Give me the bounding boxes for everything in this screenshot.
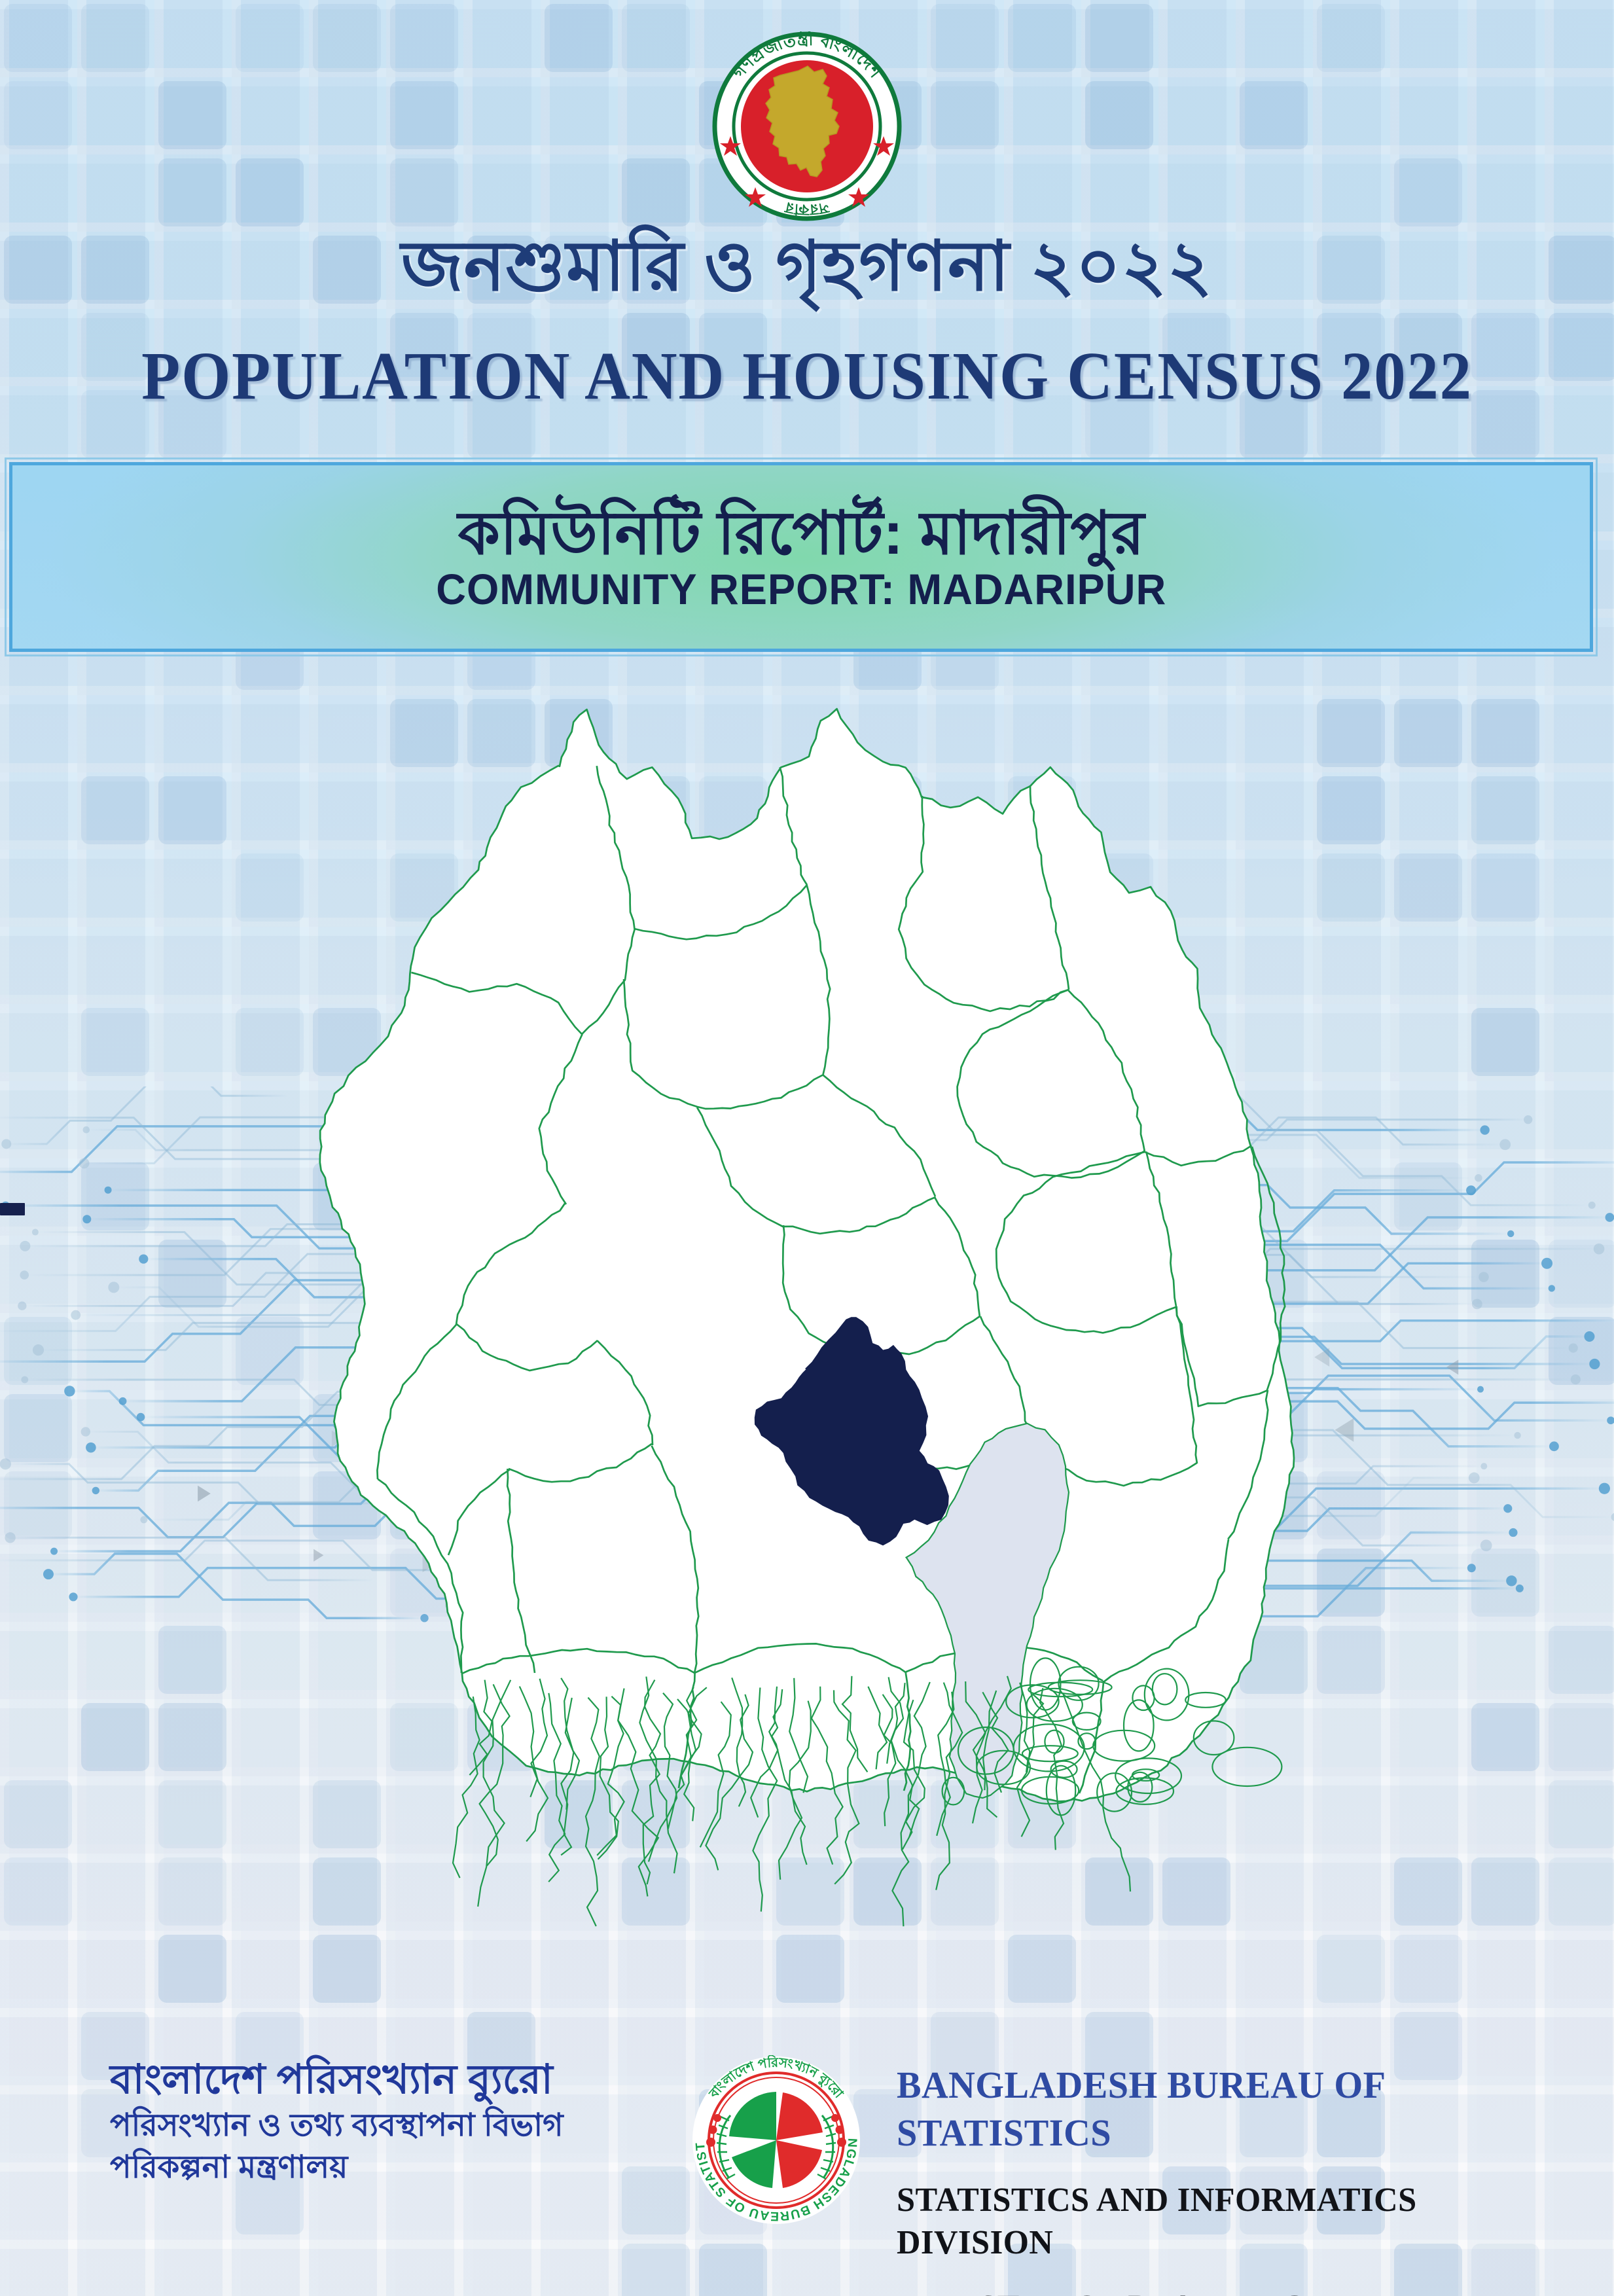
report-cover-page: গণপ্রজাতন্ত্রী বাংলাদেশ সরকার জনশুমারি ও… [0,0,1614,2296]
footer-en-ministry: MINISTRY OF PLANNING [897,2286,1544,2296]
svg-text:সরকার: সরকার [783,199,831,219]
footer-bn-division: পরিসংখ্যান ও তথ্য ব্যবস্থাপনা বিভাগ [110,2105,764,2147]
government-emblem: গণপ্রজাতন্ত্রী বাংলাদেশ সরকার [712,31,902,221]
bangladesh-district-map-svg [166,641,1448,1964]
footer-english-block: BANGLADESH BUREAU OF STATISTICS STATISTI… [897,2062,1564,2296]
footer-bengali-block: বাংলাদেশ পরিসংখ্যান ব্যুরো পরিসংখ্যান ও … [110,2055,764,2189]
page-title-english: POPULATION AND HOUSING CENSUS 2022 [56,340,1557,412]
report-title-banner: কমিউনিটি রিপোর্ট: মাদারীপুর COMMUNITY RE… [9,462,1593,652]
footer-bn-organisation: বাংলাদেশ পরিসংখ্যান ব্যুরো [110,2055,764,2105]
footer-en-division: STATISTICS AND INFORMATICS DIVISION [897,2179,1544,2264]
footer-bn-ministry: পরিকল্পনা মন্ত্রণালয় [110,2147,764,2189]
circuit-trace-artwork [0,1086,1614,1623]
emblem-ring-text-bottom: সরকার [783,199,831,219]
edge-marker-tab [0,1203,25,1215]
bbs-logo: বাংলাদেশ পরিসংখ্যান ব্যুরো BANGLADESH BU… [691,2055,861,2225]
page-title-bengali: জনশুমারি ও গৃহগণনা ২০২২ [0,230,1614,303]
report-title-bengali: কমিউনিটি রিপোর্ট: মাদারীপুর [458,503,1145,564]
footer-en-organisation: BANGLADESH BUREAU OF STATISTICS [897,2062,1544,2157]
report-title-english: COMMUNITY REPORT: MADARIPUR [436,567,1166,611]
page-footer: বাংলাদেশ পরিসংখ্যান ব্যুরো পরিসংখ্যান ও … [0,2049,1614,2265]
bangladesh-map [0,641,1614,1964]
